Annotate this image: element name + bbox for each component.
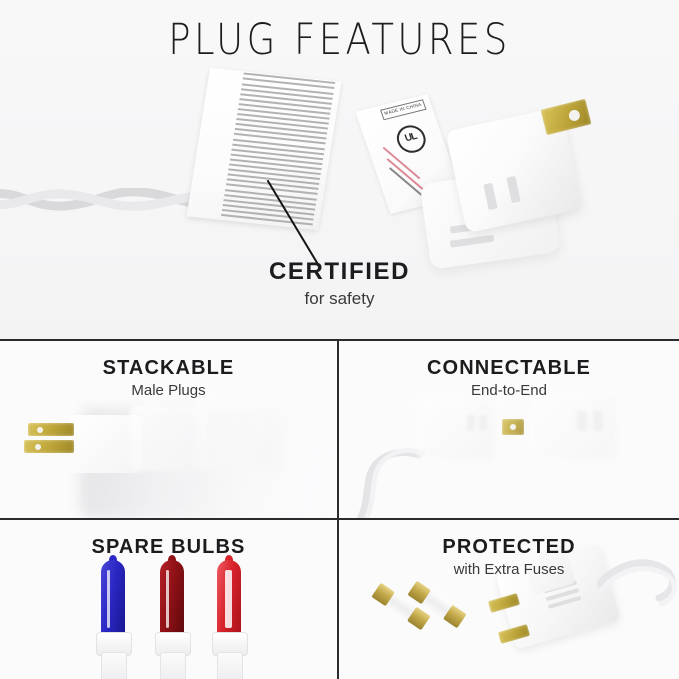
stackable-heading-block: STACKABLE Male Plugs <box>0 357 337 399</box>
panel-protected: PROTECTED with Extra Fuses <box>339 520 679 679</box>
certified-headline: CERTIFIED <box>0 258 679 286</box>
stackable-prong-upper <box>28 423 74 436</box>
caution-hang-tag: CAUTION <box>187 68 342 230</box>
panel-stackable: STACKABLE Male Plugs <box>0 341 337 518</box>
plug-features-infographic: CAUTION MADE IN CHINA UL <box>0 0 679 679</box>
protected-headline: PROTECTED <box>339 536 679 559</box>
ul-mark-icon: UL <box>393 122 429 155</box>
caution-tag-fineprint <box>221 79 334 225</box>
page-title: PLUG FEATURES <box>48 18 632 63</box>
made-in-label: MADE IN CHINA <box>380 99 426 120</box>
spare-bulb-dark-red <box>155 560 189 679</box>
certified-callout: CERTIFIED for safety <box>0 258 679 309</box>
protected-subline: with Extra Fuses <box>339 561 679 578</box>
spare-bulbs-heading-block: SPARE BULBS <box>0 536 337 561</box>
connectable-headline: CONNECTABLE <box>339 357 679 380</box>
stackable-headline: STACKABLE <box>0 357 337 380</box>
certified-subline: for safety <box>0 289 679 309</box>
connectable-subline: End-to-End <box>339 382 679 399</box>
stackable-prong-lower <box>24 440 74 453</box>
connectable-heading-block: CONNECTABLE End-to-End <box>339 357 679 399</box>
spare-bulb-red <box>212 560 246 679</box>
hero-plug-prong <box>541 99 592 135</box>
panel-connectable: CONNECTABLE End-to-End <box>339 341 679 518</box>
spare-bulbs-headline: SPARE BULBS <box>0 536 337 559</box>
connectable-female-socket <box>417 399 495 461</box>
stackable-plug-rear <box>196 401 282 471</box>
connectable-prong <box>502 419 524 435</box>
stackable-subline: Male Plugs <box>0 382 337 399</box>
spare-bulb-blue <box>96 560 130 679</box>
protected-heading-block: PROTECTED with Extra Fuses <box>339 536 679 578</box>
connectable-male-plug <box>531 393 617 461</box>
panel-spare-bulbs: SPARE BULBS <box>0 520 337 679</box>
